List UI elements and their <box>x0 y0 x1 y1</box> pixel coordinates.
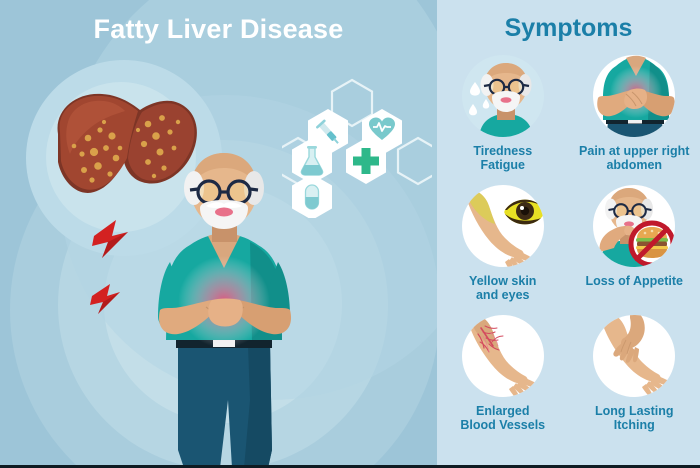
symptom-item-yellow-skin-and-eyes[interactable]: Yellow skin and eyes <box>437 182 569 312</box>
symptom-label: Pain at upper right abdomen <box>572 144 697 172</box>
scratching-arm-icon <box>590 312 678 400</box>
symptoms-title: Symptoms <box>437 14 700 43</box>
page-title: Fatty Liver Disease <box>0 14 437 45</box>
spider-veins-arm-icon <box>459 312 547 400</box>
infographic-root: Fatty Liver Disease <box>0 0 700 468</box>
elderly-man-holding-abdomen <box>120 150 330 468</box>
symptom-item-long-lasting-itching[interactable]: Long Lasting Itching <box>569 312 700 442</box>
right-panel: Tiredness Fatigue <box>437 0 700 468</box>
symptom-item-pain-upper-right-abdomen[interactable]: Pain at upper right abdomen <box>569 52 700 182</box>
abdomen-pain-icon <box>590 52 678 140</box>
left-panel: Fatty Liver Disease <box>0 0 437 468</box>
symptom-label: Enlarged Blood Vessels <box>440 404 565 432</box>
no-burger-appetite-icon <box>590 182 678 270</box>
symptom-item-enlarged-blood-vessels[interactable]: Enlarged Blood Vessels <box>437 312 569 442</box>
symptom-label: Loss of Appetite <box>572 274 697 288</box>
symptom-label: Tiredness Fatigue <box>440 144 565 172</box>
symptom-item-loss-of-appetite[interactable]: Loss of Appetite <box>569 182 700 312</box>
tired-man-sweating-icon <box>459 52 547 140</box>
symptom-item-tiredness-fatigue[interactable]: Tiredness Fatigue <box>437 52 569 182</box>
symptom-label: Long Lasting Itching <box>572 404 697 432</box>
symptom-label: Yellow skin and eyes <box>440 274 565 302</box>
jaundice-eye-arm-icon <box>459 182 547 270</box>
symptom-grid: Tiredness Fatigue <box>437 52 700 442</box>
